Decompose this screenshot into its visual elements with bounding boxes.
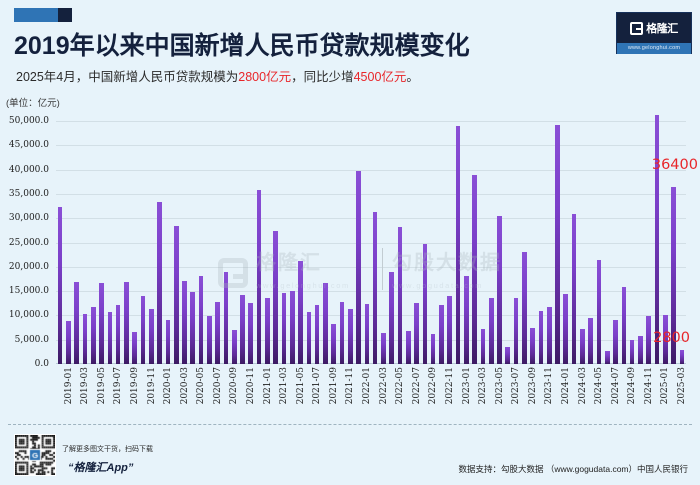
x-axis-tick-label: 2023-01: [462, 367, 472, 404]
bar: [398, 227, 403, 364]
page-title: 2019年以来中国新增人民币贷款规模变化: [14, 26, 470, 62]
y-axis-tick-label: 30,000.0: [9, 213, 49, 223]
x-axis-tick-label: 2019-03: [80, 367, 90, 404]
bar: [315, 305, 320, 364]
bar: [149, 309, 154, 364]
bar: [439, 305, 444, 364]
bar: [389, 272, 394, 364]
chart-page: 2019年以来中国新增人民币贷款规模变化 2025年4月，中国新增人民币贷款规模…: [0, 0, 700, 485]
bar: [174, 226, 179, 365]
gelonghui-g-icon: [630, 22, 643, 35]
bar: [141, 296, 146, 364]
subtitle-mid: ，同比少增: [291, 70, 354, 84]
qr-code: [14, 434, 56, 476]
bar: [472, 175, 477, 364]
bar: [58, 207, 63, 364]
bar: [257, 190, 262, 364]
bar: [522, 252, 527, 364]
bar: [199, 276, 204, 364]
bar: [224, 272, 229, 364]
x-axis-tick-label: 2022-07: [412, 367, 422, 404]
bar: [547, 307, 552, 364]
bar: [248, 303, 253, 364]
x-axis-tick-label: 2020-11: [246, 367, 256, 404]
x-axis-tick-label: 2019-09: [130, 367, 140, 404]
bar: [323, 283, 328, 364]
bar: [630, 340, 635, 364]
brand-name: 格隆汇: [646, 20, 678, 36]
bar: [157, 202, 162, 364]
x-axis-tick-label: 2020-05: [196, 367, 206, 404]
x-axis-tick-label: 2022-09: [428, 367, 438, 404]
bar: [680, 350, 685, 364]
y-axis-tick-label: 45,000.0: [9, 140, 49, 150]
bar: [348, 309, 353, 364]
bar: [622, 287, 627, 364]
brand-url: www.gelonghui.com: [617, 43, 691, 54]
x-axis-tick-label: 2022-01: [362, 367, 372, 404]
x-axis-tick-label: 2021-03: [279, 367, 289, 404]
bar: [340, 302, 345, 364]
x-axis-tick-label: 2019-05: [97, 367, 107, 404]
bar: [116, 305, 121, 364]
x-axis-tick-label: 2025-03: [677, 367, 687, 404]
y-axis-tick-label: 20,000.0: [9, 262, 49, 272]
unit-note: (单位：亿元): [6, 95, 60, 109]
bar: [481, 329, 486, 364]
x-axis-tick-label: 2020-01: [163, 367, 173, 404]
bar: [431, 334, 436, 364]
x-axis-tick-label: 2019-07: [113, 367, 123, 404]
bar: [273, 231, 278, 364]
bar: [83, 314, 88, 364]
bar: [414, 303, 419, 364]
bar: [74, 282, 79, 364]
x-axis-tick-label: 2023-11: [544, 367, 554, 404]
bar-series: [56, 121, 686, 364]
x-axis-tick-label: 2025-01: [660, 367, 670, 404]
bar: [456, 126, 461, 364]
bar: [423, 244, 428, 364]
bar: [290, 291, 295, 364]
x-axis-tick-label: 2024-01: [561, 367, 571, 404]
x-axis-tick-label: 2023-03: [478, 367, 488, 404]
brand-row: 格隆汇: [617, 13, 691, 43]
subtitle-post: 。: [406, 70, 419, 84]
x-axis-tick-label: 2022-03: [379, 367, 389, 404]
bar: [530, 328, 535, 364]
app-name: “格隆汇App”: [68, 459, 133, 475]
y-axis-tick-label: 35,000.0: [9, 189, 49, 199]
brand-logo: 格隆汇 www.gelonghui.com: [616, 12, 692, 54]
x-axis-tick-label: 2023-05: [495, 367, 505, 404]
bar: [572, 214, 577, 364]
bar: [489, 298, 494, 364]
bar: [66, 321, 71, 364]
bar: [613, 320, 618, 364]
bar: [182, 281, 187, 364]
bar: [331, 324, 336, 364]
bar: [215, 302, 220, 364]
bar: [406, 331, 411, 364]
x-axis-tick-label: 2024-09: [627, 367, 637, 404]
bar: [365, 304, 370, 364]
bar: [282, 293, 287, 364]
y-axis-tick-label: 40,000.0: [9, 165, 49, 175]
bar: [514, 298, 519, 364]
x-axis-tick-label: 2020-07: [213, 367, 223, 404]
x-axis-tick-label: 2021-07: [312, 367, 322, 404]
accent-bar-dark: [58, 8, 72, 22]
x-axis-tick-label: 2022-05: [395, 367, 405, 404]
bar: [580, 329, 585, 364]
x-axis-tick-label: 2019-01: [64, 367, 74, 404]
subtitle-highlight-amount: 2800亿元: [238, 70, 291, 84]
bar: [447, 296, 452, 364]
qr-code-canvas: [15, 435, 55, 475]
subtitle-highlight-delta: 4500亿元: [354, 70, 407, 84]
y-axis-tick-label: 10,000.0: [9, 310, 49, 320]
bar: [232, 330, 237, 364]
y-axis-tick-label: 0.0: [35, 359, 49, 369]
y-axis-tick-label: 15,000.0: [9, 286, 49, 296]
bar: [539, 311, 544, 364]
bar: [166, 320, 171, 364]
bar: [240, 295, 245, 365]
bar: [307, 312, 312, 364]
x-axis-tick-label: 2021-01: [263, 367, 273, 404]
x-axis-tick-label: 2024-05: [594, 367, 604, 404]
x-axis-tick-label: 2023-07: [511, 367, 521, 404]
bar: [597, 260, 602, 364]
bar: [655, 115, 660, 364]
chart-plot-area: 0.05,000.010,000.015,000.020,000.025,000…: [56, 121, 686, 364]
bar: [265, 298, 270, 364]
y-axis-tick-label: 50,000.0: [9, 116, 49, 126]
watermark-divider: [382, 248, 383, 290]
x-axis-tick-label: 2021-05: [296, 367, 306, 404]
bar: [505, 347, 510, 364]
x-axis-tick-label: 2021-09: [329, 367, 339, 404]
subtitle: 2025年4月，中国新增人民币贷款规模为2800亿元，同比少增4500亿元。: [16, 66, 419, 85]
bar: [298, 261, 303, 364]
bar: [588, 318, 593, 364]
x-axis-tick-label: 2024-11: [644, 367, 654, 404]
bar: [563, 294, 568, 364]
qr-caption: 了解更多图文干货，扫码下载: [62, 444, 153, 454]
bar: [99, 283, 104, 364]
bar: [132, 332, 137, 364]
x-axis-tick-label: 2024-07: [611, 367, 621, 404]
bar: [605, 351, 610, 364]
subtitle-pre: 2025年4月，中国新增人民币贷款规模为: [16, 70, 238, 84]
bar: [373, 212, 378, 364]
bar: [497, 216, 502, 364]
bar: [464, 276, 469, 364]
bar: [638, 336, 643, 364]
bar: [555, 125, 560, 364]
footer-divider: [8, 424, 692, 425]
x-axis-tick-label: 2019-11: [147, 367, 157, 404]
callout-high-value: 36400: [652, 157, 698, 173]
bar: [108, 312, 113, 364]
bar: [646, 316, 651, 364]
bar: [124, 282, 129, 364]
y-axis-tick-label: 5,000.0: [15, 335, 49, 345]
x-axis-tick-label: 2023-09: [528, 367, 538, 404]
callout-low-value: 2800: [653, 330, 690, 346]
x-axis-tick-label: 2020-09: [229, 367, 239, 404]
data-source: 数据支持：勾股大数据 （www.gogudata.com）中国人民银行: [458, 463, 688, 475]
x-axis-tick-label: 2020-03: [180, 367, 190, 404]
bar: [190, 292, 195, 364]
bar: [91, 307, 96, 364]
y-axis-tick-label: 25,000.0: [9, 238, 49, 248]
x-axis-tick-label: 2021-11: [345, 367, 355, 404]
bar: [207, 316, 212, 364]
x-axis-tick-label: 2022-11: [445, 367, 455, 404]
bar: [356, 171, 361, 364]
bar: [381, 333, 386, 364]
x-axis-tick-label: 2024-03: [578, 367, 588, 404]
